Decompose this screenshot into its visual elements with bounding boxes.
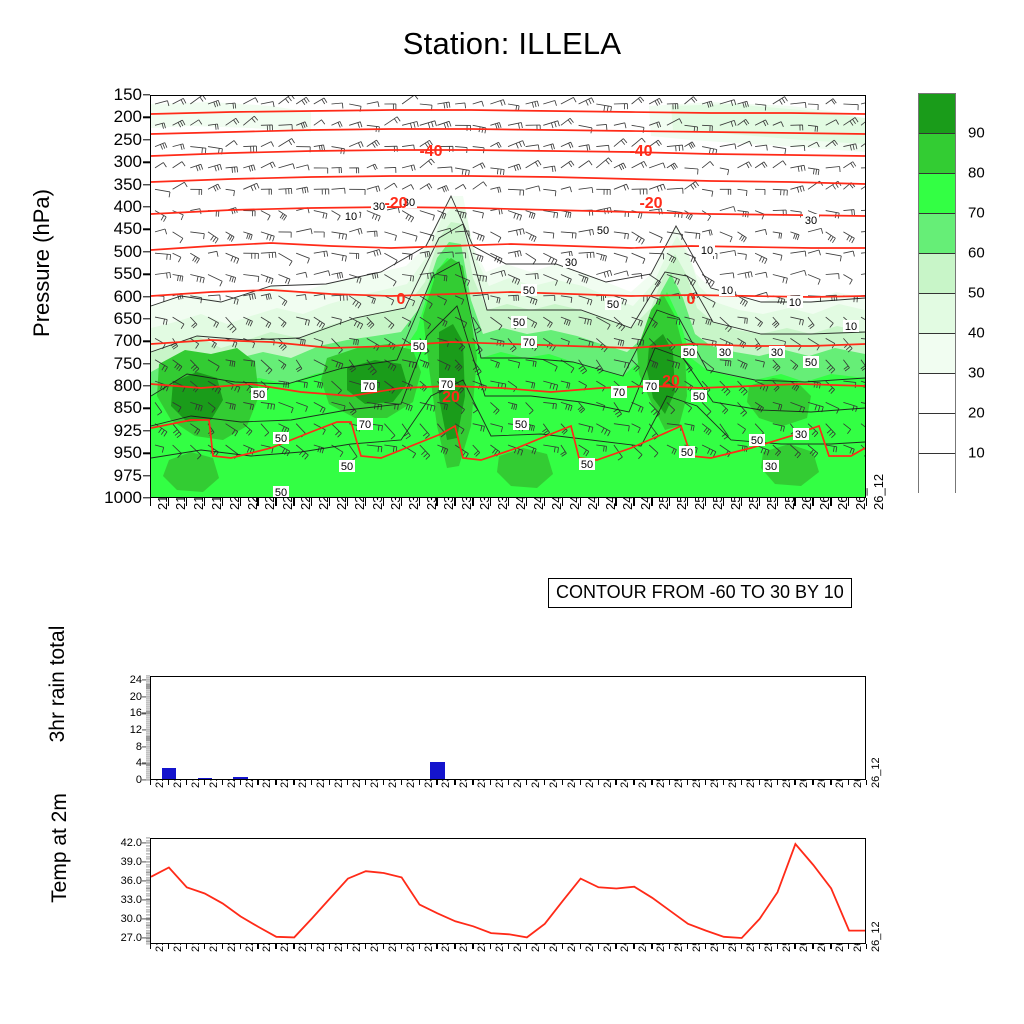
temp-tick-mark	[142, 880, 150, 881]
svg-text:10: 10	[345, 211, 357, 223]
rain-time-tick	[759, 780, 760, 785]
temp-time-tick	[759, 944, 760, 949]
temp-polyline	[151, 844, 865, 938]
pressure-tick-mark	[143, 139, 150, 140]
rain-time-label: 26_12	[870, 757, 882, 788]
svg-text:-40: -40	[629, 143, 652, 160]
svg-text:10: 10	[721, 285, 733, 297]
temp-time-tick	[723, 944, 724, 949]
colorbar-tick-label: 30	[968, 365, 985, 382]
pressure-tick-label: 450	[62, 219, 142, 239]
time-tick-mark	[454, 498, 455, 506]
colorbar-tick-label: 50	[968, 285, 985, 302]
svg-text:50: 50	[607, 299, 619, 311]
rain-tick-label: 12	[102, 724, 142, 736]
time-tick-mark	[580, 498, 581, 506]
time-tick-mark	[794, 498, 795, 506]
temp-time-tick	[347, 944, 348, 949]
time-tick-mark	[293, 498, 294, 506]
colorbar-segment	[919, 334, 955, 374]
svg-text:50: 50	[751, 435, 763, 447]
rain-time-tick	[741, 780, 742, 785]
colorbar-tick-label: 20	[968, 405, 985, 422]
time-tick-mark	[168, 498, 169, 506]
temp-tick-mark	[142, 937, 150, 938]
temp-time-tick	[293, 944, 294, 949]
rain-time-tick	[508, 780, 509, 785]
time-tick-mark	[777, 498, 778, 506]
pressure-tick-mark	[143, 206, 150, 207]
rain-tick-label: 24	[102, 674, 142, 686]
pressure-tick-mark	[143, 453, 150, 454]
colorbar-tick-label: 70	[968, 205, 985, 222]
pressure-tick-mark	[143, 385, 150, 386]
rain-time-tick	[687, 780, 688, 785]
rain-time-tick	[633, 780, 634, 785]
rain-time-tick	[329, 780, 330, 785]
time-tick-mark	[526, 498, 527, 506]
pressure-tick-label: 200	[62, 107, 142, 127]
temp-time-tick	[812, 944, 813, 949]
temp-time-tick	[741, 944, 742, 949]
svg-text:50: 50	[805, 357, 817, 369]
temp-time-tick	[490, 944, 491, 949]
time-tick-mark	[615, 498, 616, 506]
svg-text:20: 20	[662, 373, 680, 390]
svg-text:30: 30	[795, 429, 807, 441]
rain-time-tick	[222, 780, 223, 785]
svg-text:50: 50	[515, 419, 527, 431]
temp-time-tick	[848, 944, 849, 949]
svg-text:50: 50	[681, 447, 693, 459]
rain-tick-label: 0	[102, 774, 142, 786]
temp-time-tick	[526, 944, 527, 949]
rain-time-tick	[401, 780, 402, 785]
colorbar-segment	[919, 214, 955, 254]
temp-panel-ylabel: Temp at 2m	[48, 733, 72, 963]
time-tick-mark	[508, 498, 509, 506]
temp-time-tick	[436, 944, 437, 949]
pressure-tick-label: 700	[62, 331, 142, 351]
svg-text:70: 70	[523, 337, 535, 349]
pressure-tick-mark	[143, 94, 150, 95]
rain-time-tick	[293, 780, 294, 785]
temp-tick-label: 36.0	[98, 875, 142, 887]
rain-time-tick	[257, 780, 258, 785]
temp-time-tick	[705, 944, 706, 949]
temp-tick-label: 27.0	[98, 932, 142, 944]
pressure-tick-label: 850	[62, 398, 142, 418]
temp-time-tick	[669, 944, 670, 949]
svg-text:50: 50	[693, 391, 705, 403]
svg-text:0: 0	[397, 291, 406, 308]
temp-time-tick	[401, 944, 402, 949]
temp-time-tick	[204, 944, 205, 949]
pressure-tick-label: 550	[62, 264, 142, 284]
temp-tick-mark	[142, 899, 150, 900]
time-tick-mark	[848, 498, 849, 506]
time-tick-mark	[329, 498, 330, 506]
svg-text:50: 50	[275, 433, 287, 445]
temp-time-tick	[186, 944, 187, 949]
rain-bar	[233, 777, 247, 779]
time-tick-mark	[204, 498, 205, 506]
temp-time-tick	[794, 944, 795, 949]
time-tick-mark	[687, 498, 688, 506]
time-tick-mark	[490, 498, 491, 506]
temp-time-tick	[777, 944, 778, 949]
svg-text:30: 30	[765, 461, 777, 473]
rain-bar	[162, 768, 176, 779]
temp-time-tick	[562, 944, 563, 949]
temp-time-tick	[257, 944, 258, 949]
pressure-tick-mark	[143, 117, 150, 118]
svg-text:30: 30	[805, 215, 817, 227]
rain-time-tick	[436, 780, 437, 785]
time-tick-mark	[812, 498, 813, 506]
rain-time-tick	[311, 780, 312, 785]
svg-text:-20: -20	[639, 195, 662, 212]
rain-time-tick	[705, 780, 706, 785]
time-tick-mark	[186, 498, 187, 506]
rain-tick-mark	[142, 680, 150, 681]
svg-text:50: 50	[581, 459, 593, 471]
svg-text:30: 30	[565, 257, 577, 269]
rain-tick-label: 8	[102, 741, 142, 753]
main-panel-ylabel: Pressure (hPa)	[29, 103, 55, 423]
time-tick-mark	[562, 498, 563, 506]
temp-time-tick	[275, 944, 276, 949]
time-height-contour-plot[interactable]: 3010505070503070507070705070505030101010…	[150, 95, 866, 498]
time-tick-mark	[866, 498, 867, 506]
svg-text:-40: -40	[419, 143, 442, 160]
rain-time-tick	[615, 780, 616, 785]
temp-time-tick	[651, 944, 652, 949]
temp-time-tick	[419, 944, 420, 949]
pressure-tick-mark	[143, 273, 150, 274]
temp-time-tick	[866, 944, 867, 949]
pressure-tick-mark	[143, 475, 150, 476]
rain-time-tick	[186, 780, 187, 785]
svg-text:70: 70	[645, 381, 657, 393]
rain-time-tick	[598, 780, 599, 785]
pressure-tick-label: 600	[62, 287, 142, 307]
temp-time-tick	[222, 944, 223, 949]
colorbar-tick-label: 40	[968, 325, 985, 342]
pressure-tick-label: 500	[62, 242, 142, 262]
contour-canvas: 3010505070503070507070705070505030101010…	[151, 96, 865, 497]
rain-time-tick	[490, 780, 491, 785]
time-tick-label: 26_12	[871, 474, 886, 510]
svg-text:30: 30	[373, 201, 385, 213]
rain-tick-label: 20	[102, 691, 142, 703]
colorbar-segment	[919, 414, 955, 454]
rain-time-tick	[526, 780, 527, 785]
temp-time-tick	[454, 944, 455, 949]
rain-bar-chart[interactable]	[150, 676, 866, 780]
svg-text:30: 30	[719, 347, 731, 359]
rain-bar	[430, 762, 444, 779]
rain-time-tick	[866, 780, 867, 785]
colorbar-segment	[919, 454, 955, 494]
time-tick-mark	[347, 498, 348, 506]
pressure-tick-mark	[143, 430, 150, 431]
rain-tick-label: 4	[102, 757, 142, 769]
colorbar-tick-label: 80	[968, 165, 985, 182]
time-tick-mark	[598, 498, 599, 506]
temp-time-tick	[544, 944, 545, 949]
pressure-tick-label: 150	[62, 85, 142, 105]
temp-tick-label: 39.0	[98, 856, 142, 868]
rain-time-tick	[669, 780, 670, 785]
svg-text:50: 50	[513, 317, 525, 329]
rain-tick-mark	[142, 746, 150, 747]
time-tick-mark	[544, 498, 545, 506]
rain-time-tick	[347, 780, 348, 785]
rain-time-tick	[168, 780, 169, 785]
colorbar-segment	[919, 254, 955, 294]
time-tick-mark	[311, 498, 312, 506]
svg-text:10: 10	[845, 321, 857, 333]
temp-time-tick	[365, 944, 366, 949]
pressure-tick-mark	[143, 161, 150, 162]
pressure-tick-label: 925	[62, 421, 142, 441]
rain-time-tick	[365, 780, 366, 785]
rain-tick-mark	[142, 729, 150, 730]
time-tick-mark	[150, 498, 151, 506]
time-tick-mark	[365, 498, 366, 506]
svg-text:50: 50	[275, 487, 287, 497]
colorbar-segment	[919, 134, 955, 174]
time-tick-mark	[633, 498, 634, 506]
colorbar-segment	[919, 374, 955, 414]
rain-time-tick	[150, 780, 151, 785]
pressure-tick-label: 800	[62, 376, 142, 396]
rain-time-tick	[240, 780, 241, 785]
time-tick-mark	[240, 498, 241, 506]
temp-tick-mark	[142, 842, 150, 843]
colorbar[interactable]	[918, 93, 956, 493]
rain-time-tick	[472, 780, 473, 785]
pressure-tick-mark	[143, 229, 150, 230]
time-tick-mark	[705, 498, 706, 506]
svg-text:0: 0	[687, 291, 696, 308]
page-title: Station: ILLELA	[0, 26, 1024, 62]
time-tick-mark	[472, 498, 473, 506]
temp-time-tick	[168, 944, 169, 949]
colorbar-segment	[919, 174, 955, 214]
svg-text:20: 20	[442, 389, 460, 406]
rain-tick-mark	[142, 696, 150, 697]
pressure-tick-label: 750	[62, 354, 142, 374]
temp-time-tick	[615, 944, 616, 949]
rain-tick-mark	[142, 779, 150, 780]
time-tick-mark	[830, 498, 831, 506]
rain-time-tick	[580, 780, 581, 785]
temp-tick-label: 33.0	[98, 894, 142, 906]
rain-time-tick	[454, 780, 455, 785]
temp-time-label: 26_12	[870, 921, 882, 952]
time-tick-mark	[257, 498, 258, 506]
rain-time-tick	[830, 780, 831, 785]
rain-time-tick	[812, 780, 813, 785]
time-tick-mark	[275, 498, 276, 506]
rain-time-tick	[562, 780, 563, 785]
temp-line-chart[interactable]	[150, 838, 866, 944]
rain-time-tick	[419, 780, 420, 785]
pressure-tick-mark	[143, 363, 150, 364]
time-tick-mark	[741, 498, 742, 506]
colorbar-tick-label: 60	[968, 245, 985, 262]
svg-text:50: 50	[413, 341, 425, 353]
temp-time-tick	[311, 944, 312, 949]
time-tick-mark	[651, 498, 652, 506]
pressure-tick-label: 650	[62, 309, 142, 329]
svg-text:-20: -20	[384, 195, 407, 212]
time-tick-mark	[419, 498, 420, 506]
contour-note: CONTOUR FROM -60 TO 30 BY 10	[548, 578, 852, 608]
temp-time-tick	[633, 944, 634, 949]
colorbar-tick-label: 10	[968, 445, 985, 462]
temp-time-tick	[472, 944, 473, 949]
svg-text:50: 50	[683, 347, 695, 359]
svg-text:50: 50	[341, 461, 353, 473]
colorbar-segment	[919, 94, 955, 134]
pressure-tick-label: 975	[62, 466, 142, 486]
svg-text:70: 70	[613, 387, 625, 399]
colorbar-segment	[919, 294, 955, 334]
temp-time-tick	[329, 944, 330, 949]
rain-time-tick	[544, 780, 545, 785]
pressure-tick-mark	[143, 184, 150, 185]
colorbar-tick-label: 90	[968, 125, 985, 142]
svg-text:50: 50	[523, 285, 535, 297]
temp-time-tick	[580, 944, 581, 949]
pressure-tick-label: 1000	[62, 488, 142, 508]
pressure-tick-mark	[143, 251, 150, 252]
pressure-tick-mark	[143, 296, 150, 297]
temp-line-canvas	[151, 839, 865, 943]
svg-text:50: 50	[253, 389, 265, 401]
pressure-tick-label: 950	[62, 443, 142, 463]
temp-time-tick	[240, 944, 241, 949]
temp-time-tick	[830, 944, 831, 949]
rain-time-tick	[204, 780, 205, 785]
temp-tick-mark	[142, 918, 150, 919]
pressure-tick-mark	[143, 497, 150, 498]
time-tick-mark	[723, 498, 724, 506]
rain-time-tick	[651, 780, 652, 785]
rain-tick-mark	[142, 713, 150, 714]
time-tick-mark	[383, 498, 384, 506]
pressure-tick-label: 300	[62, 152, 142, 172]
temp-time-tick	[383, 944, 384, 949]
pressure-tick-label: 350	[62, 175, 142, 195]
time-tick-mark	[759, 498, 760, 506]
temp-tick-label: 30.0	[98, 913, 142, 925]
pressure-tick-label: 250	[62, 130, 142, 150]
temp-time-tick	[508, 944, 509, 949]
rain-time-tick	[777, 780, 778, 785]
rain-tick-label: 16	[102, 707, 142, 719]
rain-bar	[198, 778, 212, 779]
time-tick-mark	[436, 498, 437, 506]
rain-tick-mark	[142, 763, 150, 764]
svg-text:70: 70	[359, 419, 371, 431]
temp-tick-label: 42.0	[98, 837, 142, 849]
rain-time-tick	[848, 780, 849, 785]
pressure-tick-label: 400	[62, 197, 142, 217]
pressure-tick-mark	[143, 341, 150, 342]
rain-time-tick	[723, 780, 724, 785]
rain-time-tick	[794, 780, 795, 785]
temp-time-tick	[598, 944, 599, 949]
time-tick-mark	[669, 498, 670, 506]
svg-text:30: 30	[771, 347, 783, 359]
time-tick-mark	[222, 498, 223, 506]
rain-time-tick	[383, 780, 384, 785]
temp-tick-mark	[142, 861, 150, 862]
pressure-tick-mark	[143, 408, 150, 409]
temp-time-tick	[150, 944, 151, 949]
svg-text:70: 70	[363, 381, 375, 393]
svg-text:50: 50	[597, 225, 609, 237]
time-tick-mark	[401, 498, 402, 506]
pressure-tick-mark	[143, 318, 150, 319]
temp-time-tick	[687, 944, 688, 949]
svg-text:10: 10	[701, 245, 713, 257]
svg-text:10: 10	[789, 297, 801, 309]
rain-time-tick	[275, 780, 276, 785]
